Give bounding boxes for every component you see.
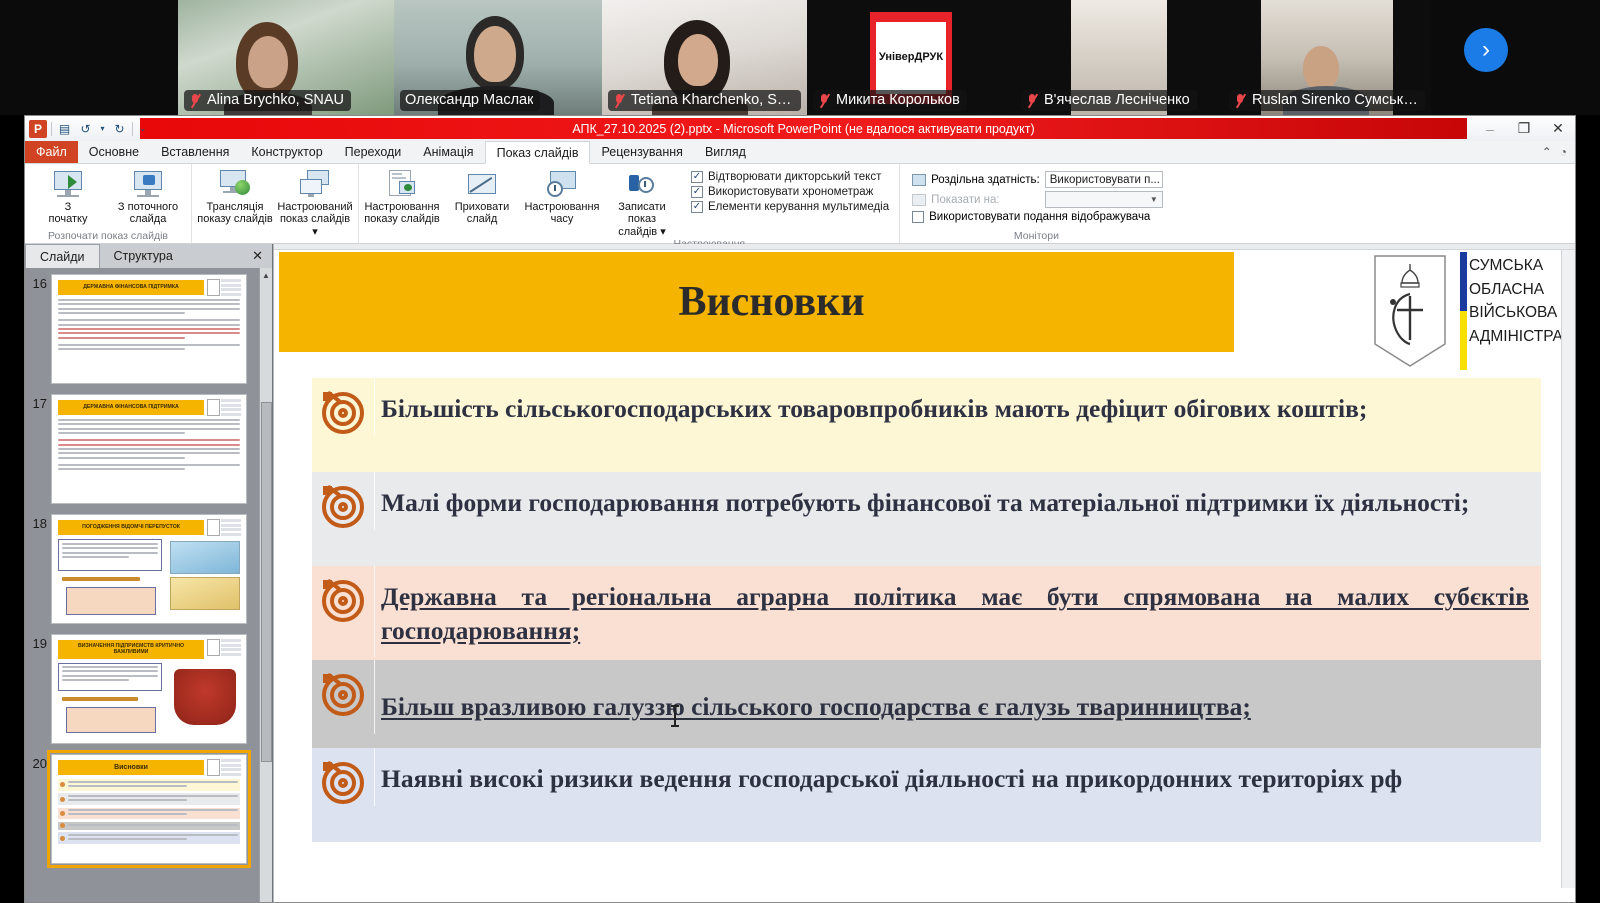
window-title: АПК_27.10.2025 (2).pptx - Microsoft Powe… bbox=[140, 118, 1467, 139]
hide-slide-button[interactable]: Приховатислайд bbox=[443, 166, 521, 226]
option-play-narrations[interactable]: ✓ Відтворювати дикторський текст bbox=[691, 171, 889, 183]
powerpoint-window: P ▤ ↺ ▾ ↻ ⌄ АПК_27.10.2025 (2).pptx - Mi… bbox=[24, 115, 1576, 903]
slide-thumbnail-item[interactable]: 18 ПОГОДЖЕННЯ ВІДОМЧІ ПЕРЕПУСТОК bbox=[29, 514, 259, 624]
rehearse-timings-icon bbox=[545, 169, 579, 199]
chevron-down-icon: ▼ bbox=[1160, 175, 1163, 184]
slide-bullet-4[interactable]: Більш вразливою галуззю сільського госпо… bbox=[312, 660, 1541, 748]
participant-label: В'ячеслав Лесніченко bbox=[1021, 90, 1197, 111]
slide-number: 17 bbox=[29, 394, 47, 411]
participant-name: В'ячеслав Лесніченко bbox=[1044, 92, 1190, 108]
participant-label: Микита Корольков bbox=[813, 90, 967, 111]
slideshow-from-start-icon bbox=[51, 169, 85, 199]
broadcast-slideshow-icon bbox=[218, 169, 252, 199]
slide-thumbnail-list[interactable]: 16 ДЕРЖАВНА ФІНАНСОВА ПІДТРИМКА bbox=[25, 268, 259, 902]
custom-slideshow-button[interactable]: Настроюванийпоказ слайдів ▾ bbox=[276, 166, 354, 238]
slide-thumbnail-item[interactable]: 16 ДЕРЖАВНА ФІНАНСОВА ПІДТРИМКА bbox=[29, 274, 259, 384]
bullet-text: Більшість сільськогосподарських товаровп… bbox=[374, 378, 1541, 436]
hide-slide-icon bbox=[465, 169, 499, 199]
help-icon[interactable]: ◔ bbox=[1560, 145, 1567, 159]
participant-tile[interactable]: В'ячеслав Лесніченко bbox=[1015, 0, 1223, 115]
org-line-4: АДМІНІСТРАЦІЯ bbox=[1469, 325, 1575, 349]
bullet-text: Наявні високі ризики ведення господарськ… bbox=[374, 748, 1541, 806]
custom-slideshow-label: Настроюванийпоказ слайдів ▾ bbox=[276, 201, 354, 238]
mic-off-icon bbox=[613, 93, 626, 108]
resolution-row: Роздільна здатність: Використовувати п..… bbox=[912, 171, 1163, 188]
mic-off-icon bbox=[1234, 93, 1247, 108]
ribbon: Зпочатку З поточногослайда Розпочати пок… bbox=[25, 164, 1575, 244]
record-slideshow-label: Записати показслайдів ▾ bbox=[603, 201, 681, 238]
thumbnail-logo bbox=[207, 519, 241, 536]
thumbnail-bullet bbox=[58, 822, 240, 830]
bullseye-target-icon bbox=[312, 472, 374, 528]
from-current-slide-label: З поточногослайда bbox=[118, 201, 178, 226]
org-bar-yellow bbox=[1460, 311, 1467, 370]
next-participants-button[interactable]: › bbox=[1464, 28, 1508, 72]
participant-label: Tetiana Kharchenko, SNAU bbox=[608, 90, 801, 111]
slide-scrollbar[interactable] bbox=[1561, 250, 1575, 888]
from-current-slide-button[interactable]: З поточногослайда bbox=[109, 166, 187, 226]
checkbox-checked-icon[interactable]: ✓ bbox=[691, 201, 703, 213]
thumbnail-body bbox=[58, 539, 240, 618]
slides-pane-scrollbar[interactable]: ▲ bbox=[259, 268, 272, 902]
rehearse-timings-button[interactable]: Настроюваннячасу bbox=[523, 166, 601, 226]
resolution-value: Використовувати п... bbox=[1050, 174, 1160, 186]
ribbon-group-label: Монітори bbox=[904, 230, 1169, 243]
close-pane-button[interactable]: ✕ bbox=[243, 244, 272, 268]
show-on-label: Показати на: bbox=[931, 194, 999, 206]
thumbnail-bullet bbox=[58, 779, 240, 791]
participant-tile[interactable]: Alina Brychko, SNAU bbox=[178, 0, 394, 115]
slide-number: 18 bbox=[29, 514, 47, 531]
customize-qat-icon[interactable]: ⌄ bbox=[137, 120, 148, 137]
participant-tile-active-speaker[interactable]: Олександр Маслак bbox=[394, 0, 602, 115]
ribbon-group-setup: Настроюванняпоказу слайдів Приховатислай… bbox=[358, 164, 899, 243]
participant-tile[interactable]: Ruslan Sirenko Сумська ... bbox=[1223, 0, 1431, 115]
setup-slideshow-icon bbox=[385, 169, 419, 199]
slide-number: 19 bbox=[29, 634, 47, 651]
undo-icon[interactable]: ↺ bbox=[77, 120, 94, 137]
mic-off-icon bbox=[818, 93, 831, 108]
presenter-view-row[interactable]: Використовувати подання відображувача bbox=[912, 211, 1163, 223]
custom-slideshow-icon bbox=[298, 169, 332, 199]
ribbon-group-label bbox=[196, 238, 354, 243]
slide-number: 16 bbox=[29, 274, 47, 291]
thumbnail-body bbox=[58, 663, 240, 738]
logo-text-line1: Універ bbox=[879, 52, 915, 64]
slide-bullet-1[interactable]: Більшість сільськогосподарських товаровп… bbox=[312, 378, 1541, 472]
option-label: Відтворювати дикторський текст bbox=[708, 171, 881, 183]
checkbox-checked-icon[interactable]: ✓ bbox=[691, 171, 703, 183]
broadcast-slideshow-button[interactable]: Трансляціяпоказу слайдів bbox=[196, 166, 274, 226]
tab-outline[interactable]: Структура bbox=[100, 244, 187, 268]
slide-canvas[interactable]: Висновки bbox=[274, 250, 1575, 888]
resolution-dropdown[interactable]: Використовувати п... ▼ bbox=[1045, 171, 1163, 188]
thumbnail-title: ДЕРЖАВНА ФІНАНСОВА ПІДТРИМКА bbox=[58, 400, 204, 415]
bullseye-target-icon bbox=[312, 748, 374, 804]
mic-off-icon bbox=[189, 93, 202, 108]
chevron-down-icon: ▼ bbox=[1146, 195, 1162, 204]
slideshow-options-checkboxes: ✓ Відтворювати дикторський текст ✓ Викор… bbox=[683, 166, 895, 213]
close-button[interactable]: ✕ bbox=[1541, 116, 1575, 141]
divider bbox=[132, 122, 133, 136]
org-line-2: ОБЛАСНА bbox=[1469, 278, 1575, 302]
slideshow-from-current-icon bbox=[131, 169, 165, 199]
logo-text-line2: ДРУК bbox=[914, 52, 943, 64]
thumbnail-body bbox=[58, 419, 240, 498]
tab-animations[interactable]: Анімація bbox=[412, 141, 484, 163]
resolution-icon bbox=[912, 174, 926, 186]
thumbnail-logo bbox=[207, 639, 241, 656]
org-name-block: СУМСЬКА ОБЛАСНА ВІЙСЬКОВА АДМІНІСТРАЦІЯ bbox=[1469, 254, 1575, 348]
crest-svg bbox=[1367, 252, 1453, 370]
tab-review[interactable]: Рецензування bbox=[590, 141, 693, 163]
checkbox-unchecked-icon[interactable] bbox=[912, 211, 924, 223]
participant-name: Alina Brychko, SNAU bbox=[207, 92, 344, 108]
participant-name: Олександр Маслак bbox=[405, 92, 533, 108]
slide-editor: Висновки bbox=[273, 244, 1575, 902]
thumbnail-logo bbox=[207, 399, 241, 416]
video-conference-strip: Alina Brychko, SNAU Олександр Маслак Tet… bbox=[0, 0, 1600, 115]
slides-pane: Слайди Структура ✕ 16 ДЕРЖАВНА ФІНАНСОВА… bbox=[25, 244, 273, 902]
thumbnail-logo bbox=[207, 279, 241, 296]
participant-label: Олександр Маслак bbox=[400, 90, 540, 111]
thumbnail-title: ВИЗНАЧЕННЯ ПІДПРИЄМСТВ КРИТИЧНО ВАЖЛИВИМ… bbox=[58, 640, 204, 659]
chevron-right-icon: › bbox=[1482, 38, 1490, 62]
bullseye-target-icon bbox=[312, 378, 374, 434]
save-icon[interactable]: ▤ bbox=[56, 120, 73, 137]
slide-bullet-3[interactable]: Державна та регіональна аграрна політика… bbox=[312, 566, 1541, 660]
from-beginning-button[interactable]: Зпочатку bbox=[29, 166, 107, 226]
ribbon-tab-bar: Файл Основне Вставлення Конструктор Пере… bbox=[25, 141, 1575, 164]
option-media-controls[interactable]: ✓ Елементи керування мультимедіа bbox=[691, 201, 889, 213]
quick-access-toolbar: P ▤ ↺ ▾ ↻ ⌄ bbox=[25, 120, 148, 138]
scroll-up-icon[interactable]: ▲ bbox=[262, 268, 270, 282]
record-slideshow-icon bbox=[625, 169, 659, 199]
record-slideshow-button[interactable]: Записати показслайдів ▾ bbox=[603, 166, 681, 238]
bullet-text: Більш вразливою галуззю сільського госпо… bbox=[374, 660, 1541, 734]
participant-label: Ruslan Sirenko Сумська ... bbox=[1229, 90, 1425, 111]
coat-of-arms-icon bbox=[1367, 252, 1453, 370]
slide-bullet-5[interactable]: Наявні високі ризики ведення господарськ… bbox=[312, 748, 1541, 842]
participant-tile[interactable]: Універ ДРУК Микита Корольков bbox=[807, 0, 1015, 115]
option-use-timings[interactable]: ✓ Використовувати хронометраж bbox=[691, 186, 889, 198]
checkbox-checked-icon[interactable]: ✓ bbox=[691, 186, 703, 198]
participant-name: Микита Корольков bbox=[836, 92, 960, 108]
workspace: Слайди Структура ✕ 16 ДЕРЖАВНА ФІНАНСОВА… bbox=[25, 244, 1575, 902]
thumbnail-title: ДЕРЖАВНА ФІНАНСОВА ПІДТРИМКА bbox=[58, 280, 204, 295]
thumbnail-logo bbox=[207, 759, 241, 776]
bullseye-target-icon bbox=[312, 566, 374, 622]
tab-slideshow[interactable]: Показ слайдів bbox=[485, 141, 591, 164]
participant-label: Alina Brychko, SNAU bbox=[184, 90, 351, 111]
bullseye-target-icon bbox=[312, 660, 374, 716]
slide-bullet-list[interactable]: Більшість сільськогосподарських товаровп… bbox=[312, 378, 1541, 878]
thumbnail-bullet bbox=[58, 808, 240, 820]
participant-tile[interactable]: Tetiana Kharchenko, SNAU bbox=[602, 0, 807, 115]
thumbnail-body bbox=[58, 779, 240, 858]
tab-home[interactable]: Основне bbox=[78, 141, 150, 163]
thumbnail-bullet bbox=[58, 832, 240, 844]
org-color-bars bbox=[1460, 252, 1467, 370]
presenter-view-label: Використовувати подання відображувача bbox=[929, 211, 1150, 223]
show-on-row: Показати на: ▼ bbox=[912, 191, 1163, 208]
ribbon-group-monitors: Роздільна здатність: Використовувати п..… bbox=[899, 164, 1173, 243]
org-line-3: ВІЙСЬКОВА bbox=[1469, 301, 1575, 325]
org-bar-blue bbox=[1460, 252, 1467, 311]
document-title-text: АПК_27.10.2025 (2).pptx - Microsoft Powe… bbox=[572, 122, 1034, 136]
participant-name: Ruslan Sirenko Сумська ... bbox=[1252, 92, 1418, 108]
ribbon-right-controls: ⌃ ◔ bbox=[1542, 141, 1575, 163]
slide-thumbnail[interactable]: ПОГОДЖЕННЯ ВІДОМЧІ ПЕРЕПУСТОК bbox=[51, 514, 247, 624]
thumbnail-bullet bbox=[58, 793, 240, 805]
window-controls: – ❐ ✕ bbox=[1473, 116, 1575, 141]
status-bar bbox=[274, 888, 1575, 902]
from-beginning-label: Зпочатку bbox=[49, 201, 88, 226]
rehearse-timings-label: Настроюваннячасу bbox=[524, 201, 599, 226]
setup-slideshow-button[interactable]: Настроюванняпоказу слайдів bbox=[363, 166, 441, 226]
slide-thumbnail[interactable]: ДЕРЖАВНА ФІНАНСОВА ПІДТРИМКА bbox=[51, 394, 247, 504]
org-line-1: СУМСЬКА bbox=[1469, 254, 1575, 278]
slide-thumbnail-item-selected[interactable]: 20 Висновки bbox=[29, 754, 259, 864]
undo-dropdown-icon[interactable]: ▾ bbox=[98, 120, 107, 137]
ribbon-group-start-slideshow: Зпочатку З поточногослайда Розпочати пок… bbox=[25, 164, 191, 243]
thumbnail-title: Висновки bbox=[58, 760, 204, 775]
restore-button[interactable]: ❐ bbox=[1507, 116, 1541, 141]
bullet-text: Малі форми господарювання потребують фін… bbox=[374, 472, 1541, 530]
title-bar: P ▤ ↺ ▾ ↻ ⌄ АПК_27.10.2025 (2).pptx - Mi… bbox=[25, 116, 1575, 141]
monitor-settings: Роздільна здатність: Використовувати п..… bbox=[904, 166, 1169, 223]
tab-design[interactable]: Конструктор bbox=[240, 141, 333, 163]
tab-slides[interactable]: Слайди bbox=[25, 244, 100, 268]
tab-view[interactable]: Вигляд bbox=[694, 141, 757, 163]
slide-thumbnail-item[interactable]: 19 ВИЗНАЧЕННЯ ПІДПРИЄМСТВ КРИТИЧНО ВАЖЛИ… bbox=[29, 634, 259, 744]
redo-icon[interactable]: ↻ bbox=[111, 120, 128, 137]
ribbon-group-broadcast: Трансляціяпоказу слайдів Настроюванийпок… bbox=[191, 164, 358, 243]
participant-name: Tetiana Kharchenko, SNAU bbox=[631, 92, 794, 108]
slides-pane-tabs: Слайди Структура ✕ bbox=[25, 244, 272, 268]
ribbon-group-label: Розпочати показ слайдів bbox=[29, 230, 187, 243]
hide-slide-label: Приховатислайд bbox=[455, 201, 509, 226]
slide-bullet-2[interactable]: Малі форми господарювання потребують фін… bbox=[312, 472, 1541, 566]
slide-thumbnail[interactable]: ВИЗНАЧЕННЯ ПІДПРИЄМСТВ КРИТИЧНО ВАЖЛИВИМ… bbox=[51, 634, 247, 744]
bullet-text: Державна та регіональна аграрна політика… bbox=[374, 566, 1541, 657]
tab-transitions[interactable]: Переходи bbox=[334, 141, 413, 163]
setup-slideshow-label: Настроюванняпоказу слайдів bbox=[364, 201, 440, 226]
mic-off-icon bbox=[1026, 93, 1039, 108]
minimize-button[interactable]: – bbox=[1473, 116, 1507, 141]
thumbnail-title: ПОГОДЖЕННЯ ВІДОМЧІ ПЕРЕПУСТОК bbox=[58, 520, 204, 535]
slide-number: 20 bbox=[29, 754, 47, 771]
tab-insert[interactable]: Вставлення bbox=[150, 141, 240, 163]
participant-tile-empty[interactable] bbox=[0, 0, 178, 115]
option-label: Елементи керування мультимедіа bbox=[708, 201, 889, 213]
scrollbar-thumb[interactable] bbox=[261, 402, 272, 762]
collapse-ribbon-icon[interactable]: ⌃ bbox=[1542, 145, 1552, 159]
resolution-label: Роздільна здатність: bbox=[931, 174, 1040, 186]
broadcast-slideshow-label: Трансляціяпоказу слайдів bbox=[197, 201, 273, 226]
thumbnail-body bbox=[58, 299, 240, 378]
powerpoint-logo-icon[interactable]: P bbox=[29, 120, 47, 138]
show-on-dropdown[interactable]: ▼ bbox=[1045, 191, 1163, 208]
tab-file[interactable]: Файл bbox=[25, 141, 78, 163]
display-icon bbox=[912, 194, 926, 206]
slide-thumbnail[interactable]: ДЕРЖАВНА ФІНАНСОВА ПІДТРИМКА bbox=[51, 274, 247, 384]
divider bbox=[51, 122, 52, 136]
slide-thumbnail-item[interactable]: 17 ДЕРЖАВНА ФІНАНСОВА ПІДТРИМКА bbox=[29, 394, 259, 504]
slide-title-text: Висновки bbox=[678, 278, 864, 326]
text-cursor-icon bbox=[674, 705, 676, 727]
slide-thumbnail[interactable]: Висновки bbox=[51, 754, 247, 864]
option-label: Використовувати хронометраж bbox=[708, 186, 873, 198]
slide-title-band[interactable]: Висновки bbox=[279, 252, 1234, 352]
